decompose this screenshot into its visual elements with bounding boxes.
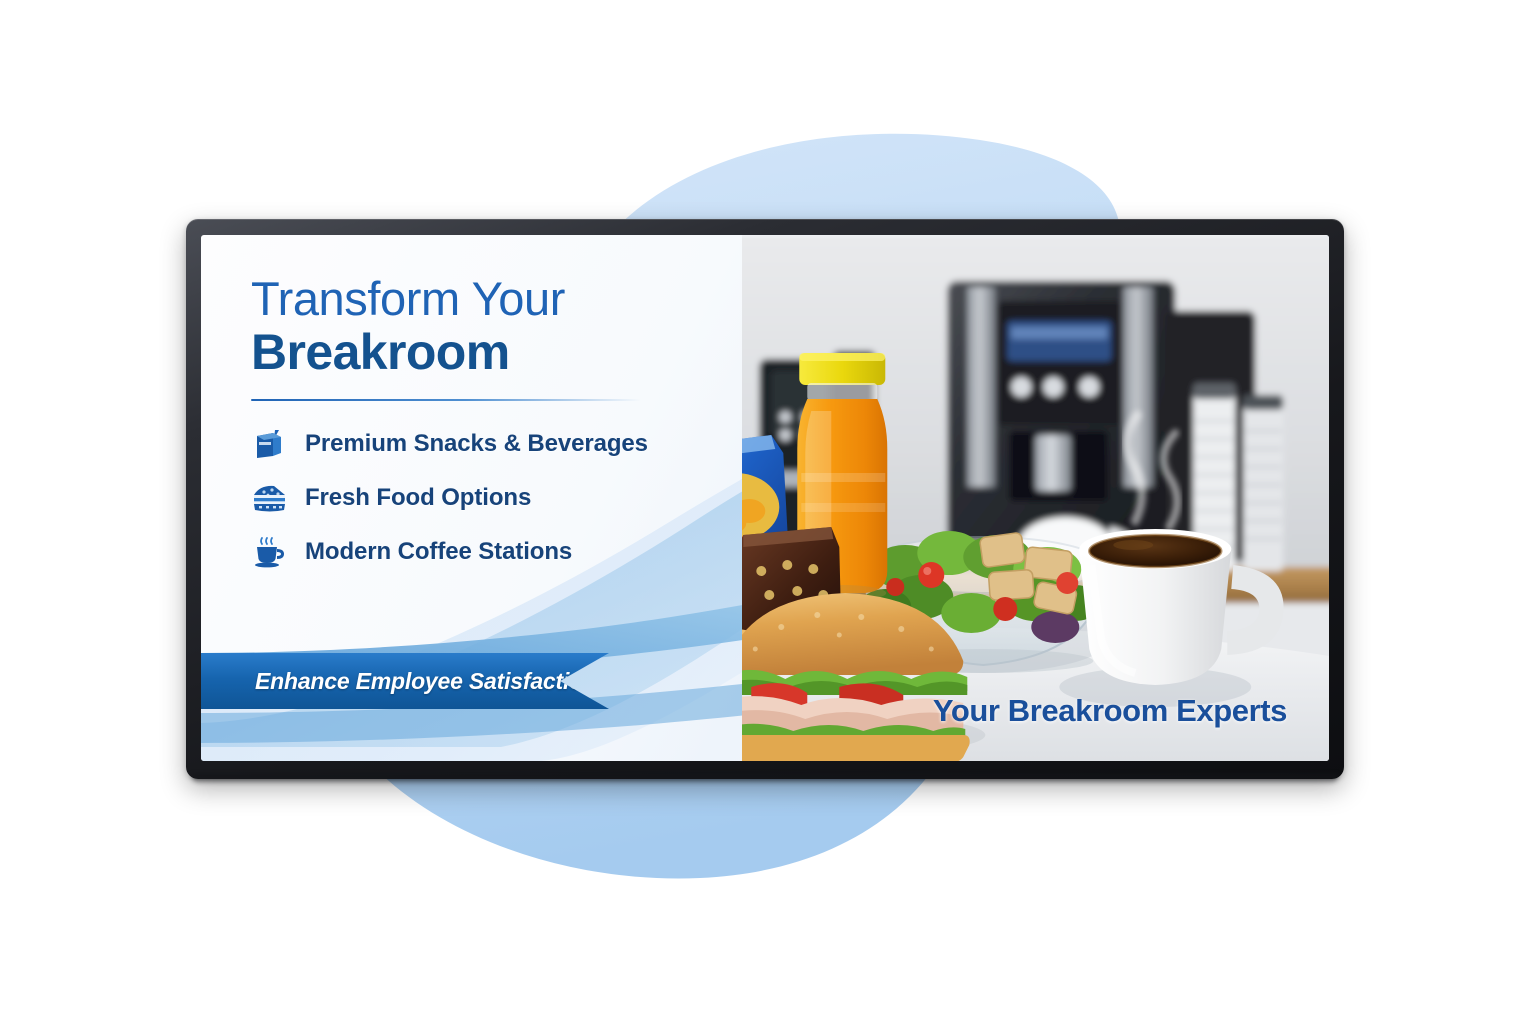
headline-divider (251, 399, 641, 401)
feature-item-coffee: Modern Coffee Stations (251, 535, 721, 569)
tagline: Your Breakroom Experts (933, 693, 1287, 729)
feature-label-snacks: Premium Snacks & Beverages (305, 430, 648, 458)
ribbon-banner: Enhance Employee Satisfaction (201, 653, 609, 709)
ribbon-label: Enhance Employee Satisfaction (201, 668, 597, 695)
headline-line-2: Breakroom (251, 325, 721, 379)
food-photography (742, 235, 1329, 761)
digital-signage-slide: Transform Your Breakroom (201, 235, 1329, 761)
monitor-screen: Transform Your Breakroom (201, 235, 1329, 761)
display-monitor: Transform Your Breakroom (186, 219, 1344, 779)
feature-list: Premium Snacks & Beverages (251, 427, 721, 569)
headline-line-1: Transform Your (251, 275, 721, 323)
feature-label-food: Fresh Food Options (305, 484, 531, 512)
juice-box-icon (251, 427, 289, 461)
feature-item-snacks: Premium Snacks & Beverages (251, 427, 721, 461)
paper-cup-stack-b (1244, 395, 1284, 571)
feature-label-coffee: Modern Coffee Stations (305, 538, 572, 566)
photography-svg (742, 235, 1329, 761)
sandwich-icon (251, 481, 289, 515)
slide-copy-block: Transform Your Breakroom (251, 275, 721, 569)
coffee-cup-icon (251, 535, 289, 569)
feature-item-food: Fresh Food Options (251, 481, 721, 515)
